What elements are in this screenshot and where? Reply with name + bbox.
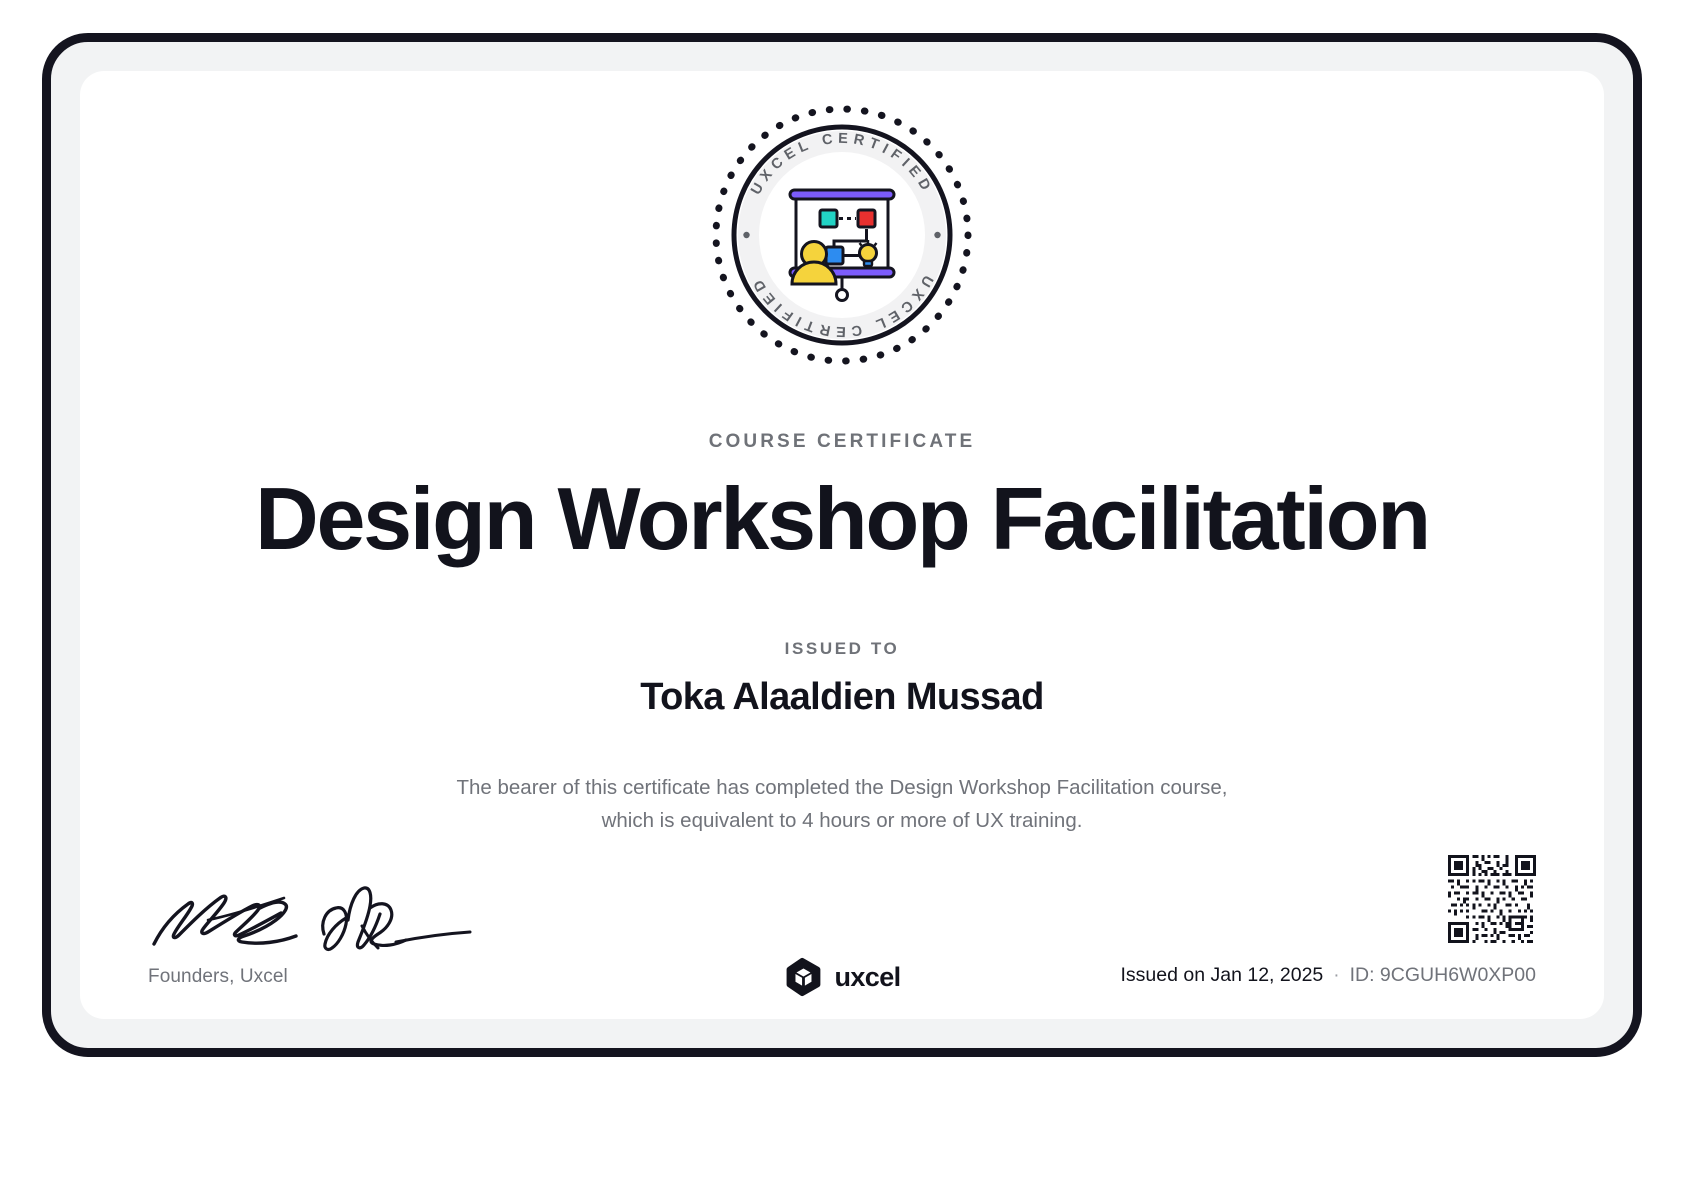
uxcel-logo: uxcel <box>783 957 900 997</box>
eyebrow-label: COURSE CERTIFICATE <box>80 431 1604 453</box>
issued-to-label: ISSUED TO <box>80 639 1604 659</box>
uxcel-certified-badge: UXCEL CERTIFIED UXCEL CERTIFIED <box>708 101 976 369</box>
signature-caption: Founders, Uxcel <box>148 966 288 988</box>
recipient-name: Toka Alaaldien Mussad <box>80 676 1604 719</box>
uxcel-cube-hexagon-icon <box>783 957 823 997</box>
certificate-description: The bearer of this certificate has compl… <box>452 771 1232 837</box>
certificate-frame: UXCEL CERTIFIED UXCEL CERTIFIED <box>42 33 1642 1057</box>
certificate-id: ID: 9CGUH6W0XP00 <box>1350 964 1536 987</box>
meta-separator: · <box>1333 965 1339 987</box>
verification-qr-code[interactable] <box>1448 855 1536 943</box>
founder-signatures <box>148 856 478 956</box>
certificate-meta: Issued on Jan 12, 2025 · ID: 9CGUH6W0XP0… <box>1121 964 1536 987</box>
uxcel-wordmark: uxcel <box>834 962 900 993</box>
page-title: Design Workshop Facilitation <box>80 471 1604 566</box>
certificate-card: UXCEL CERTIFIED UXCEL CERTIFIED <box>80 71 1604 1019</box>
issued-on-date: Issued on Jan 12, 2025 <box>1121 964 1324 987</box>
